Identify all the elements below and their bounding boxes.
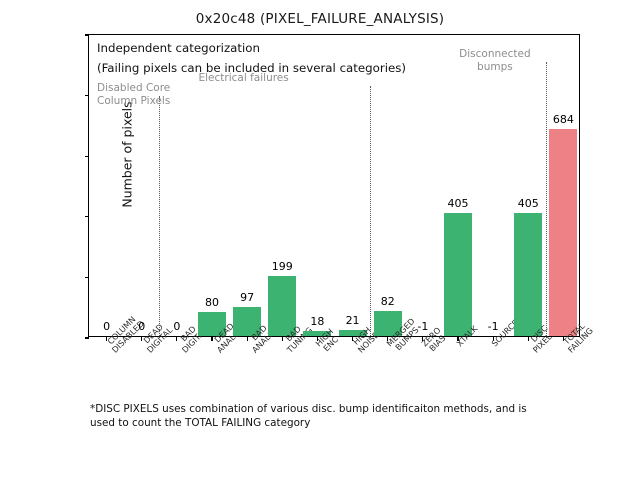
chart-title: 0x20c48 (PIXEL_FAILURE_ANALYSIS): [0, 11, 640, 27]
y-tick-mark: [85, 337, 90, 338]
bar-value-label: 21: [346, 314, 360, 327]
y-tick-mark: [85, 216, 90, 217]
annotation-independent-categorization: Independent categorization: [97, 41, 260, 55]
bar-value-label: -1: [417, 320, 428, 333]
annotation-line: Disabled Core: [97, 82, 170, 95]
bar-value-label: 0: [138, 320, 145, 333]
y-tick-mark: [85, 95, 90, 96]
annotation-disabled-core-column-pixels: Disabled CoreColumn Pixels: [97, 82, 170, 108]
bar[interactable]: [444, 213, 472, 336]
bar-value-label: 97: [240, 291, 254, 304]
bar-value-label: 405: [518, 197, 539, 210]
bar-value-label: 0: [103, 320, 110, 333]
bar-value-label: 80: [205, 296, 219, 309]
bar-value-label: 82: [381, 295, 395, 308]
bar-value-label: 684: [553, 113, 574, 126]
annotation-disconnected-bumps: Disconnectedbumps: [459, 48, 530, 74]
footnote-line-1: *DISC PIXELS uses combination of various…: [90, 402, 620, 416]
y-tick-mark: [85, 277, 90, 278]
annotation-electrical-failures: Electrical failures: [199, 72, 289, 85]
plot-area: 02004006008001000Number of pixels0COLUMN…: [88, 34, 580, 337]
bar-value-label: 405: [448, 197, 469, 210]
bar[interactable]: [514, 213, 542, 336]
bar-value-label: 199: [272, 260, 293, 273]
bar-value-label: 18: [310, 315, 324, 328]
annotation-line: Disconnected: [459, 48, 530, 61]
annotation-line: Column Pixels: [97, 95, 170, 108]
category-divider-line: [546, 62, 547, 338]
category-divider-line: [159, 96, 160, 338]
bar[interactable]: [549, 129, 577, 336]
y-tick-mark: [85, 34, 90, 35]
footnote-line-2: used to count the TOTAL FAILING category: [90, 416, 620, 430]
bar-value-label: 0: [173, 320, 180, 333]
y-tick-mark: [85, 156, 90, 157]
chart-root: 0x20c48 (PIXEL_FAILURE_ANALYSIS) 0200400…: [0, 0, 640, 480]
category-divider-line: [370, 86, 371, 338]
plot-inner: 02004006008001000Number of pixels0COLUMN…: [89, 35, 579, 336]
bar-value-label: -1: [488, 320, 499, 333]
footnote: *DISC PIXELS uses combination of various…: [90, 402, 620, 430]
annotation-line: bumps: [459, 61, 530, 74]
